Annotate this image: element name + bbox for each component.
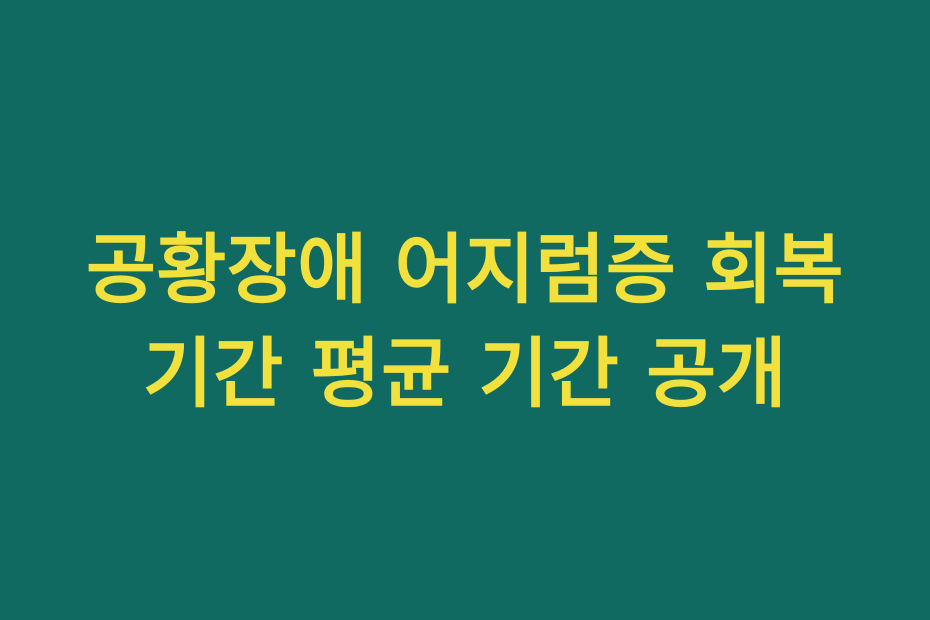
headline-line-1: 공황장애 어지럼증 회복 [24,218,906,322]
headline-line-2: 기간 평균 기간 공개 [24,322,906,426]
headline-block: 공황장애 어지럼증 회복 기간 평균 기간 공개 [0,218,930,426]
text-banner: 공황장애 어지럼증 회복 기간 평균 기간 공개 [0,0,930,620]
